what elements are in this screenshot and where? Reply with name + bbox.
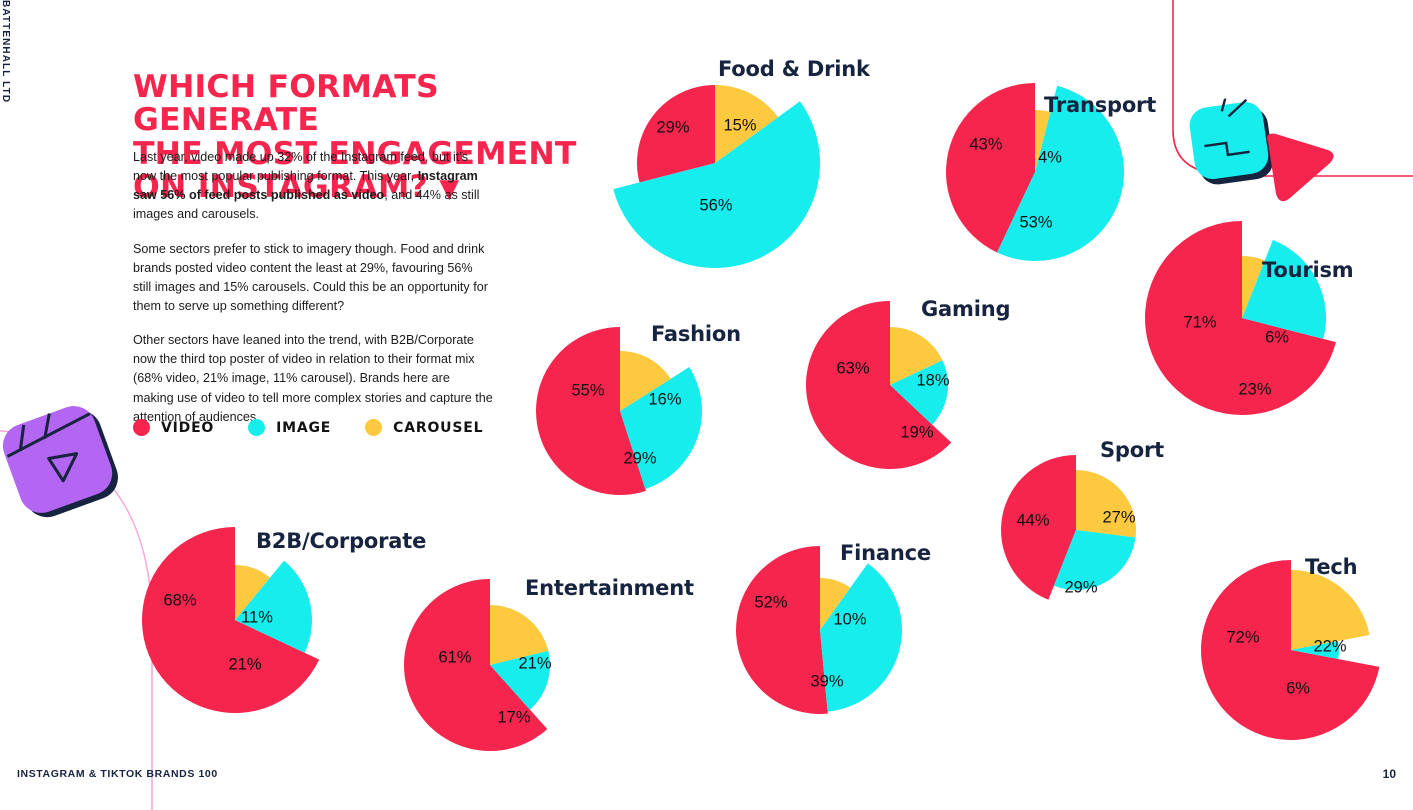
intro-paragraph: Other sectors have leaned into the trend… [133,331,493,427]
legend-dot-icon [365,419,382,436]
intro-paragraph: Some sectors prefer to stick to imagery … [133,240,493,317]
legend-dot-icon [248,419,265,436]
pie-chart-title: Entertainment [525,576,694,600]
legend-item-video[interactable]: VIDEO [133,419,214,436]
format-legend: VIDEOIMAGECAROUSEL [133,419,483,436]
pie-slice-video[interactable] [736,546,828,714]
pie-chart-title: Gaming [921,297,1010,321]
pie-chart-title: Food & Drink [718,57,870,81]
legend-label: IMAGE [276,420,331,436]
intro-paragraph: Last year, video made up 32% of the Inst… [133,148,493,225]
pie-slice-video[interactable] [1201,560,1379,740]
tv-icon [1184,92,1281,189]
clapperboard-icon [0,388,134,532]
pie-slice-carousel[interactable] [1076,470,1136,538]
body-text: Other sectors have leaned into the trend… [133,333,493,424]
footer-page-number: 10 [1383,767,1396,781]
legend-item-image[interactable]: IMAGE [248,419,331,436]
legend-label: VIDEO [161,420,214,436]
pie-chart-title: B2B/Corporate [256,529,426,553]
headline-line-1: WHICH FORMATS GENERATE [133,69,439,138]
pie-chart-title: Sport [1100,438,1164,462]
intro-copy: Last year, video made up 32% of the Inst… [133,148,493,442]
slide-canvas: BATTENHALL LTD WHICH FORMATS GENERATE TH… [0,0,1413,791]
pie-chart-title: Finance [840,541,931,565]
red-curve-decoration [1163,0,1413,190]
footer-report-name: INSTAGRAM & TIKTOK BRANDS 100 [17,768,218,780]
play-triangle-icon [1262,130,1338,204]
vertical-brand-label: BATTENHALL LTD [0,0,11,103]
legend-dot-icon [133,419,150,436]
pie-slice-carousel[interactable] [1291,570,1370,650]
pie-chart-title: Fashion [651,322,741,346]
body-text: Some sectors prefer to stick to imagery … [133,242,488,313]
legend-label: CAROUSEL [393,420,483,436]
legend-item-carousel[interactable]: CAROUSEL [365,419,483,436]
